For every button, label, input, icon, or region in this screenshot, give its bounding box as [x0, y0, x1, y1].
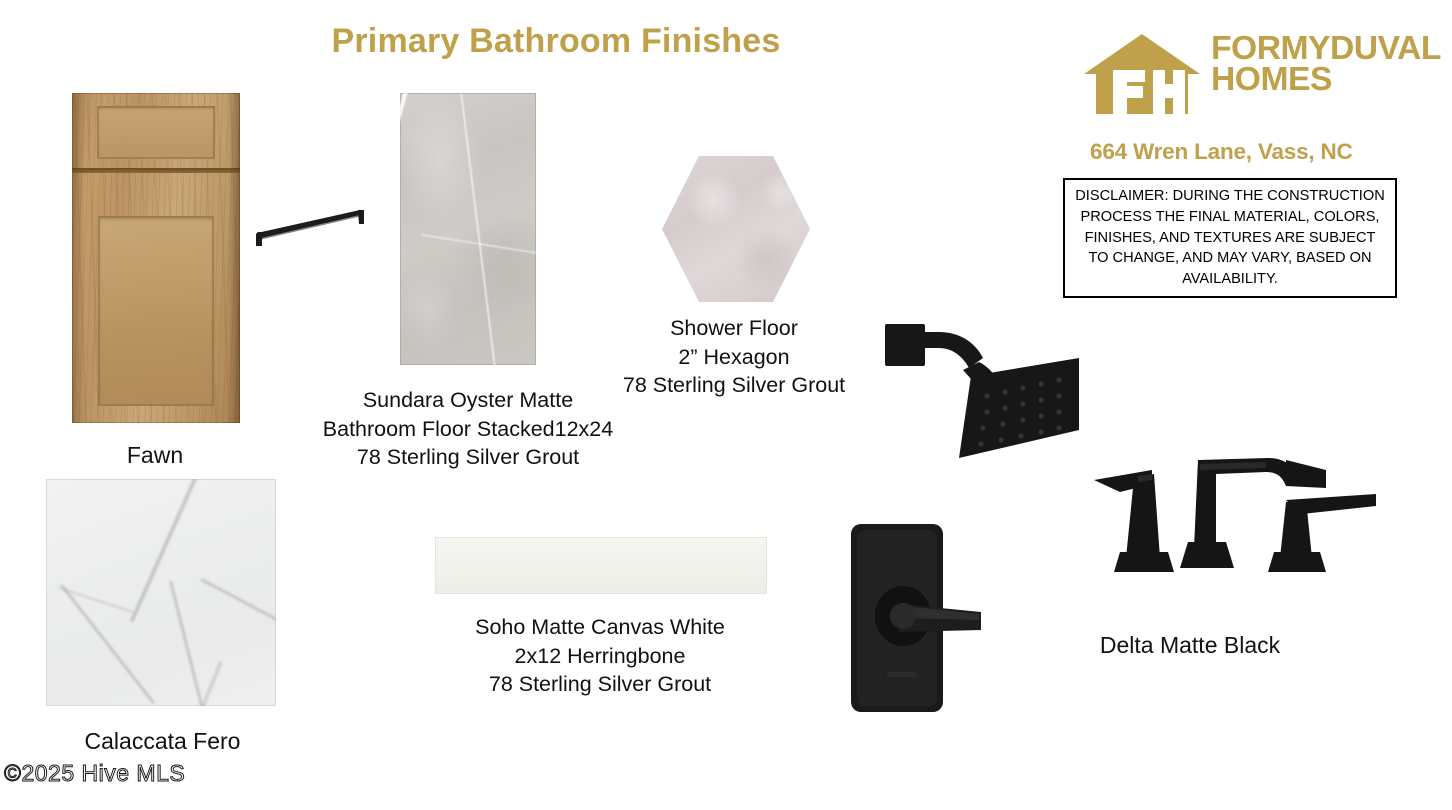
matte-black-shower-head — [883, 318, 1095, 468]
mls-watermark: ©2025 Hive MLS — [4, 760, 185, 787]
porcelain-floor-tile-swatch — [400, 93, 536, 365]
door-seam — [72, 168, 240, 173]
subway-wall-tile-swatch — [435, 537, 767, 594]
cabinet-door-swatch — [72, 93, 240, 423]
floor-tile-label: Sundara Oyster Matte Bathroom Floor Stac… — [300, 386, 636, 472]
brand-block: FORMYDUVAL HOMES — [1083, 28, 1433, 116]
disclaimer-text: DISCLAIMER: DURING THE CONSTRUCTION PROC… — [1065, 186, 1395, 290]
page-title: Primary Bathroom Finishes — [286, 22, 826, 61]
house-fh-logo-icon — [1083, 30, 1201, 116]
cabinet-bar-pull-hardware — [252, 205, 370, 247]
slab-vein — [58, 587, 135, 614]
matte-black-shower-valve-trim — [843, 520, 993, 720]
tile-mottling — [662, 156, 810, 302]
door-top-panel — [97, 106, 215, 159]
brand-address: 664 Wren Lane, Vass, NC — [1090, 139, 1435, 165]
door-left-edge-shading — [72, 93, 85, 423]
subway-tile-label: Soho Matte Canvas White 2x12 Herringbone… — [432, 613, 768, 699]
brand-name-line1: FORMYDUVAL — [1211, 32, 1442, 63]
door-bottom-panel — [98, 216, 214, 406]
slab-vein — [130, 479, 203, 622]
hex-tile-label: Shower Floor 2” Hexagon 78 Sterling Silv… — [604, 314, 864, 400]
tile-mottling — [400, 93, 536, 365]
hexagon-shower-floor-tile-swatch — [662, 156, 810, 302]
quartz-label: Calaccata Fero — [40, 726, 285, 757]
matte-black-widespread-faucet — [1090, 448, 1380, 588]
finishes-board: Primary Bathroom Finishes FORMYDUVAL HOM… — [0, 0, 1452, 810]
slab-vein — [169, 581, 206, 706]
faucet-label: Delta Matte Black — [1070, 630, 1310, 661]
quartz-countertop-slab-swatch — [46, 479, 276, 706]
hexagon-shape — [662, 156, 810, 302]
disclaimer-box: DISCLAIMER: DURING THE CONSTRUCTION PROC… — [1063, 178, 1397, 298]
brand-name-line2: HOMES — [1211, 63, 1442, 94]
cabinet-label: Fawn — [65, 440, 245, 471]
brand-name: FORMYDUVAL HOMES — [1211, 32, 1442, 94]
door-right-edge-shading — [228, 93, 240, 423]
slab-vein — [201, 578, 276, 623]
